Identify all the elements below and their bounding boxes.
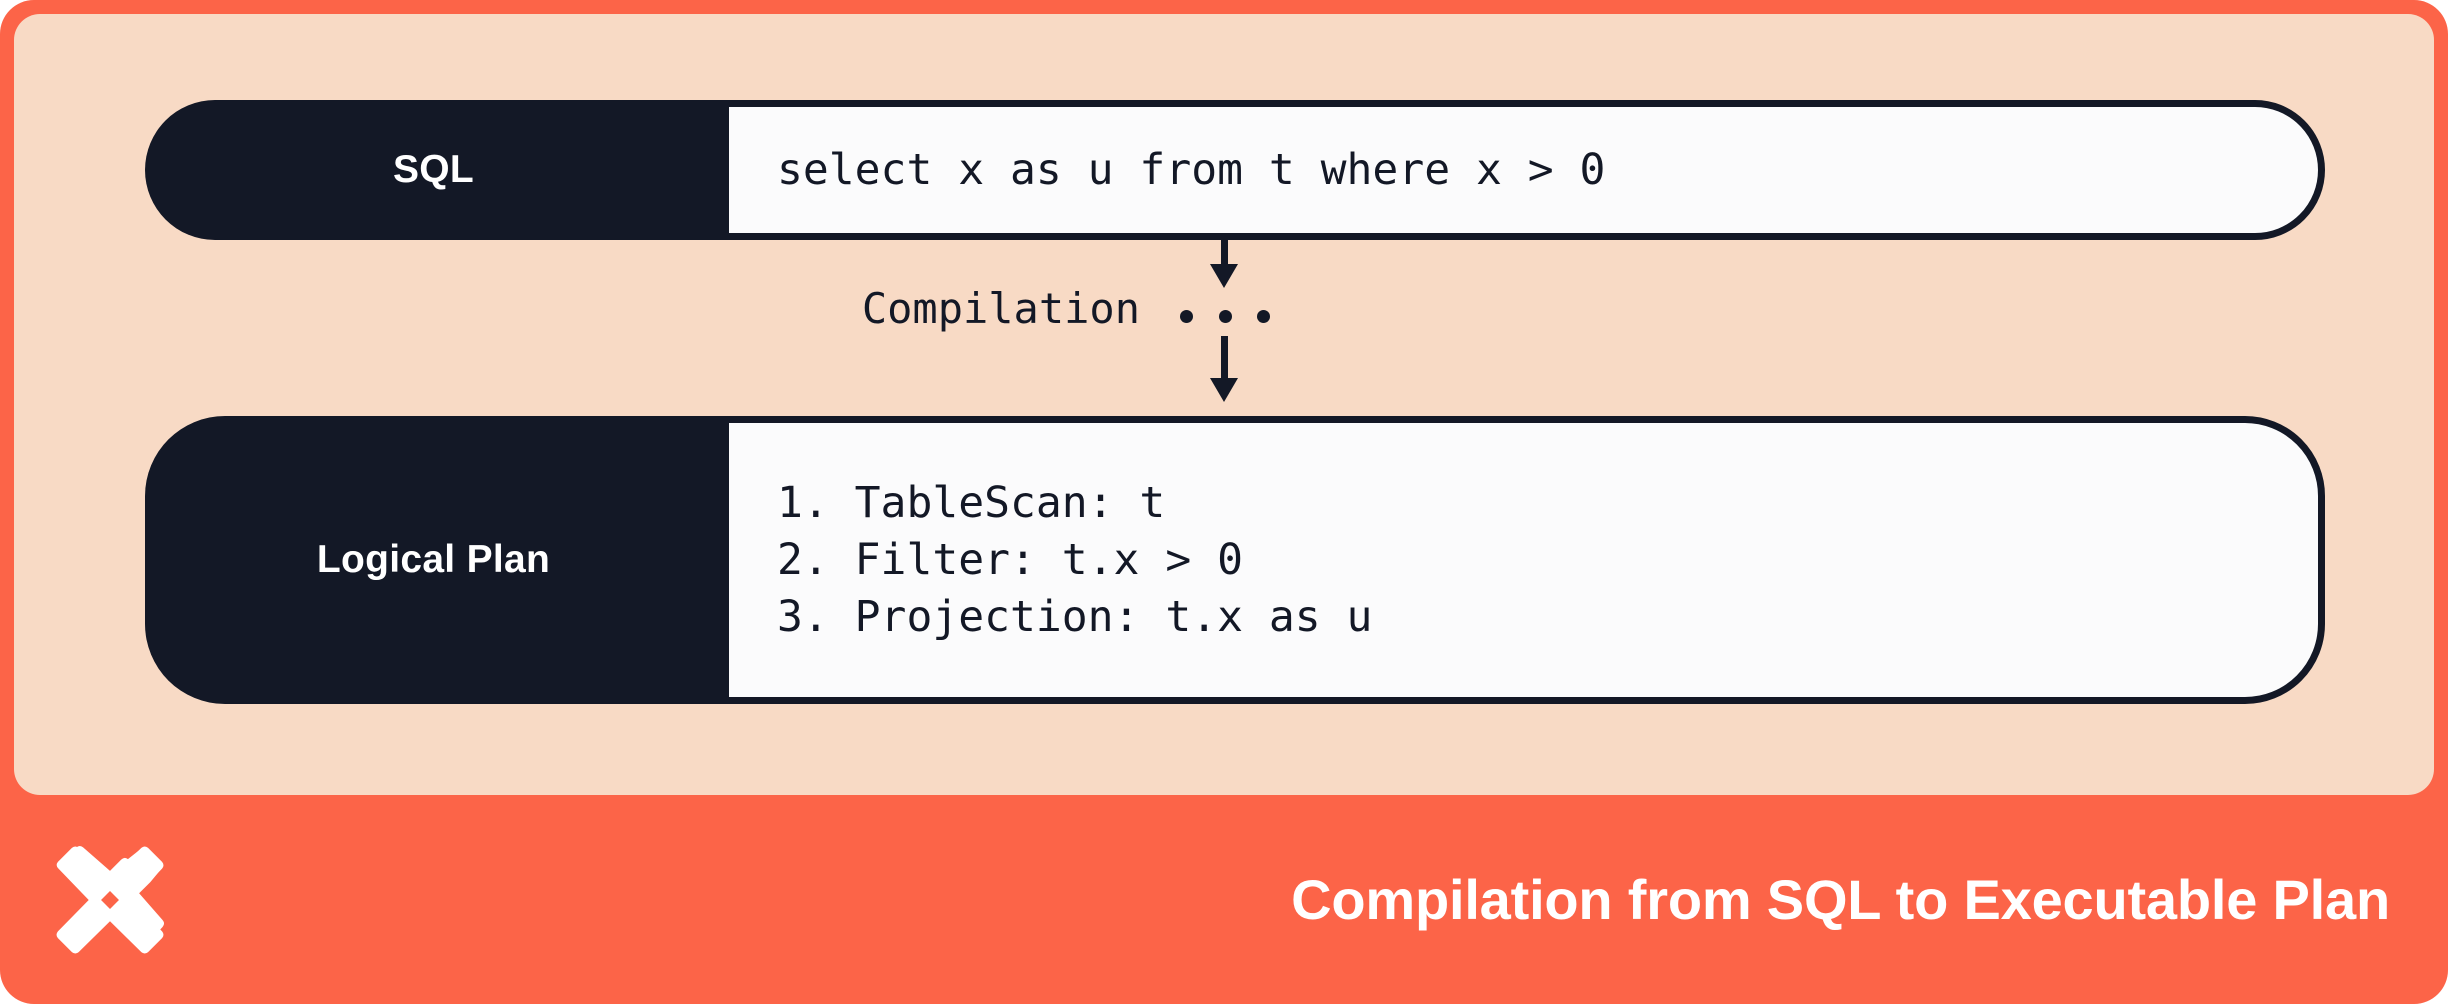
dot-icon bbox=[1219, 310, 1232, 323]
logical-plan-row-label: Logical Plan bbox=[145, 416, 722, 704]
diagram-stage: SQL select x as u from t where x > 0 Log… bbox=[14, 14, 2434, 795]
sql-row-label: SQL bbox=[145, 100, 722, 240]
arrow-shaft bbox=[1221, 336, 1228, 380]
arrow-head bbox=[1210, 378, 1238, 402]
logical-plan-card: 1. TableScan: t 2. Filter: t.x > 0 3. Pr… bbox=[722, 416, 2325, 704]
arrow-head bbox=[1210, 264, 1238, 288]
logical-plan-step: 1. TableScan: t bbox=[777, 482, 1372, 525]
sql-code-card: select x as u from t where x > 0 bbox=[722, 100, 2325, 240]
dot-icon bbox=[1257, 310, 1270, 323]
sql-row: SQL select x as u from t where x > 0 bbox=[145, 100, 2325, 240]
logical-plan-row: Logical Plan 1. TableScan: t 2. Filter: … bbox=[145, 416, 2325, 704]
ellipsis-dots bbox=[1180, 301, 1270, 331]
dot-icon bbox=[1180, 310, 1193, 323]
logical-plan-step-list: 1. TableScan: t 2. Filter: t.x > 0 3. Pr… bbox=[777, 476, 1372, 645]
compilation-label: Compilation bbox=[790, 284, 1140, 333]
arrow-down-icon bbox=[1213, 336, 1235, 402]
slide-root: SQL select x as u from t where x > 0 Log… bbox=[0, 0, 2448, 1004]
four-pointed-star-logo-icon bbox=[54, 844, 166, 956]
logical-plan-step: 3. Projection: t.x as u bbox=[777, 596, 1372, 639]
compilation-connector: Compilation bbox=[0, 226, 2448, 402]
logical-plan-step: 2. Filter: t.x > 0 bbox=[777, 539, 1372, 582]
sql-query-text: select x as u from t where x > 0 bbox=[777, 149, 1605, 192]
footer-title: Compilation from SQL to Executable Plan bbox=[1291, 867, 2390, 932]
footer-bar: Compilation from SQL to Executable Plan bbox=[0, 795, 2448, 1004]
